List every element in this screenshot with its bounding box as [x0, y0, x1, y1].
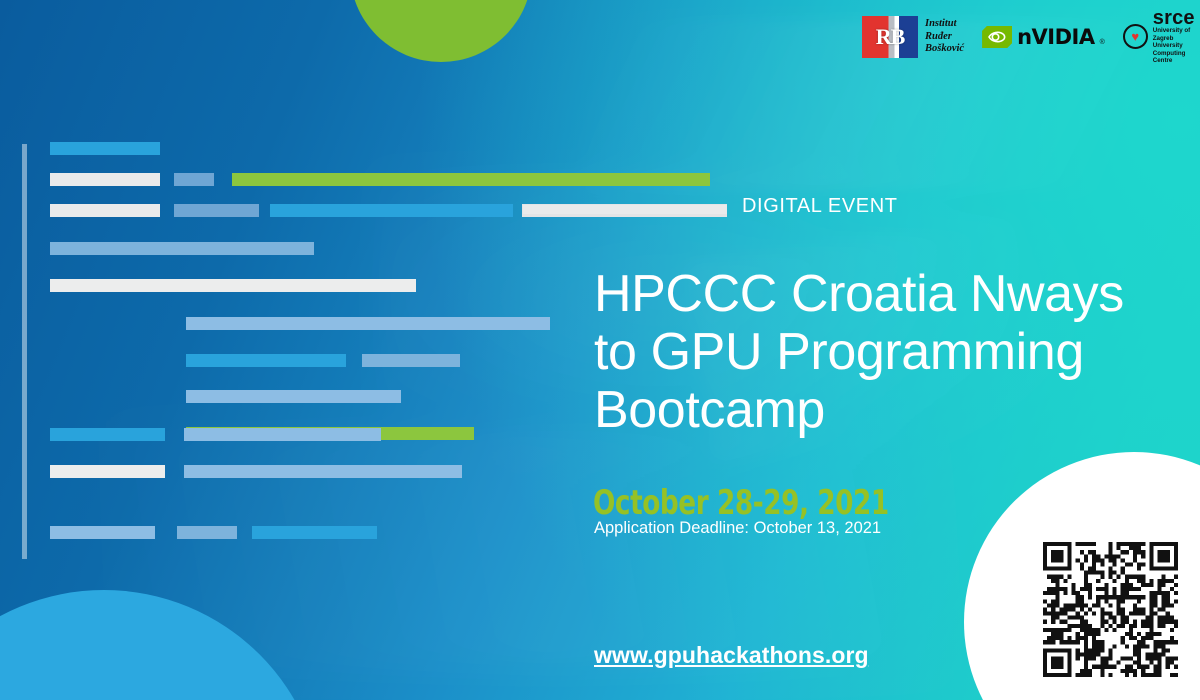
event-kicker: DIGITAL EVENT — [742, 195, 898, 218]
code-bar — [50, 428, 165, 441]
code-bar — [232, 173, 710, 186]
code-bar — [174, 204, 259, 217]
code-bar — [50, 173, 160, 186]
rb-line-2: Ruđer — [925, 31, 964, 44]
code-bar — [177, 526, 237, 539]
code-bar — [362, 354, 460, 367]
sponsor-logos: RB Institut Ruđer Bošković nVIDIA ® ♥ — [862, 9, 1200, 65]
page-title: HPCCC Croatia Nways to GPU Programming B… — [594, 265, 1174, 439]
code-bar — [50, 204, 160, 217]
rb-mark-icon: RB — [862, 16, 918, 58]
code-bar — [186, 390, 401, 403]
code-bar — [184, 465, 462, 478]
code-bar — [50, 279, 416, 292]
nvidia-wordmark: nVIDIA — [1017, 25, 1095, 49]
code-bar — [174, 173, 214, 186]
code-bar — [50, 526, 155, 539]
heart-in-circle-icon: ♥ — [1123, 24, 1148, 49]
rb-line-3: Bošković — [925, 43, 964, 56]
heart-glyph: ♥ — [1131, 30, 1139, 43]
nvidia-trademark: ® — [1100, 39, 1105, 46]
rb-monogram: RB — [862, 16, 918, 58]
qr-code[interactable] — [1043, 542, 1178, 677]
code-bar — [270, 204, 513, 217]
rb-wordmark: Institut Ruđer Bošković — [925, 18, 964, 56]
code-bar — [186, 354, 346, 367]
green-circle-decoration — [350, 0, 532, 62]
code-bar — [50, 142, 160, 155]
rb-line-1: Institut — [925, 18, 964, 31]
event-poster: RB Institut Ruđer Bošković nVIDIA ® ♥ — [0, 0, 1200, 700]
srce-wordmark: srce — [1153, 9, 1200, 27]
application-deadline: Application Deadline: October 13, 2021 — [594, 519, 881, 538]
code-block-rule — [22, 144, 27, 559]
code-bar — [50, 242, 314, 255]
website-link[interactable]: www.gpuhackathons.org — [594, 642, 869, 669]
code-bar — [184, 428, 381, 441]
srce-subtitle-line-1: University of Zagreb — [1153, 27, 1200, 42]
srce-subtitle-line-2: University Computing Centre — [1153, 42, 1200, 65]
blue-circle-decoration — [0, 590, 324, 700]
logo-srce[interactable]: ♥ srce University of Zagreb University C… — [1123, 9, 1200, 65]
logo-institut-ruder-boskovic[interactable]: RB Institut Ruđer Bošković — [862, 16, 964, 58]
kicker-rule — [523, 205, 727, 214]
code-bar — [50, 465, 165, 478]
logo-nvidia[interactable]: nVIDIA ® — [982, 25, 1105, 49]
event-dates: October 28-29, 2021 — [593, 483, 889, 523]
code-bar — [186, 317, 550, 330]
nvidia-eye-icon — [982, 26, 1012, 48]
code-bar — [252, 526, 377, 539]
